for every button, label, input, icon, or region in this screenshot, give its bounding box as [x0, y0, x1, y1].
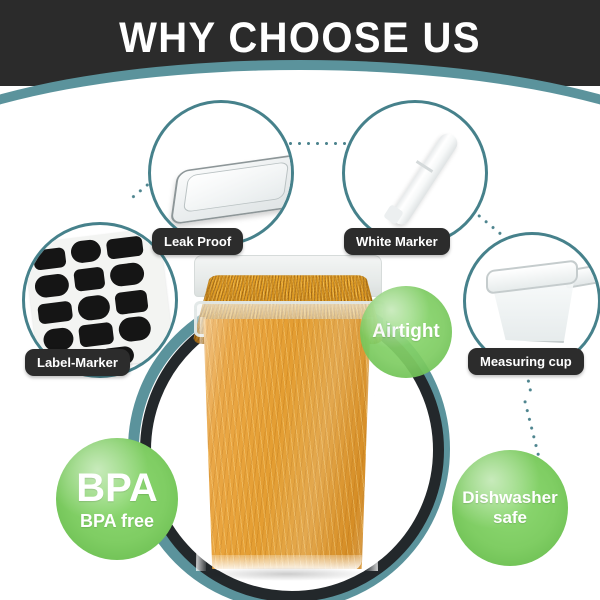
feature-circle-white-marker[interactable] — [342, 100, 488, 246]
page-title: WHY CHOOSE US — [21, 14, 579, 63]
badge-dishwasher-subtitle: safe — [493, 509, 527, 527]
badge-airtight-text: Airtight — [372, 322, 440, 342]
badge-bpa-subtitle: BPA free — [80, 512, 154, 531]
feature-label-white-marker: White Marker — [344, 228, 450, 255]
badge-dishwasher-title: Dishwasher — [462, 489, 557, 507]
measuring-scoop-icon — [482, 261, 600, 345]
feature-label-text: Leak Proof — [164, 234, 231, 249]
infographic-canvas: WHY CHOOSE US — [0, 0, 600, 600]
feature-circle-leak-proof[interactable] — [148, 100, 294, 246]
container-shadow — [202, 567, 372, 581]
badge-airtight: Airtight — [360, 286, 452, 378]
feature-label-text: Label-Marker — [37, 355, 118, 370]
product-image-spaghetti-container — [180, 255, 390, 575]
container-left-edge — [196, 317, 206, 571]
container-highlight — [198, 319, 376, 569]
feature-label-text: Measuring cup — [480, 354, 572, 369]
badge-bpa-free: BPA BPA free — [56, 438, 178, 560]
container-lid-icon — [173, 143, 294, 227]
feature-label-leak-proof: Leak Proof — [152, 228, 243, 255]
white-marker-pen-icon — [375, 121, 485, 231]
badge-bpa-title: BPA — [76, 467, 157, 509]
dot-connector-leak-to-marker — [286, 142, 348, 145]
feature-label-measuring-cup: Measuring cup — [468, 348, 584, 375]
feature-label-text: White Marker — [356, 234, 438, 249]
feature-label-label-marker: Label-Marker — [25, 349, 130, 376]
badge-dishwasher-safe: Dishwasher safe — [452, 450, 568, 566]
